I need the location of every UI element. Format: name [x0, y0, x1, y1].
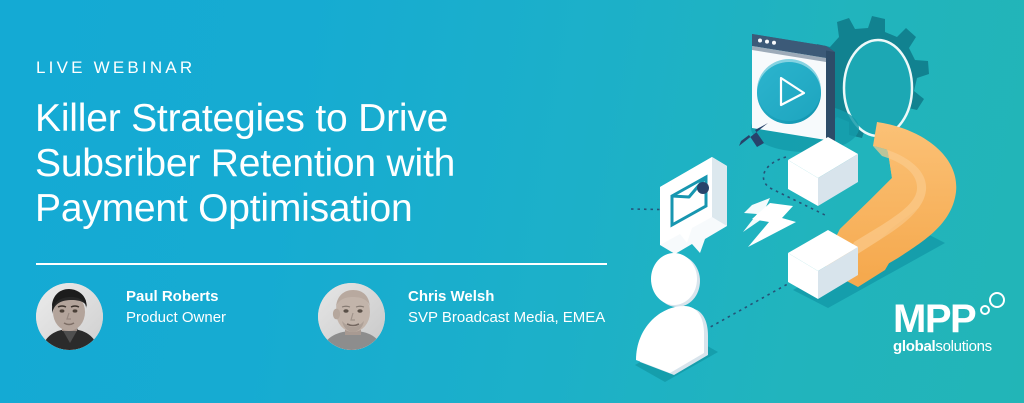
logo-tagline: globalsolutions [893, 339, 1003, 355]
kicker-label: LIVE WEBINAR [36, 58, 195, 78]
speaker-role: Product Owner [126, 307, 226, 328]
headline-line-1: Killer Strategies to Drive [35, 96, 455, 141]
avatar [36, 283, 103, 350]
logo-tagline-bold: global [893, 338, 935, 355]
webinar-banner: LIVE WEBINAR Killer Strategies to Drive … [0, 0, 1024, 403]
page-title: Killer Strategies to Drive Subsriber Ret… [35, 96, 455, 231]
magnet-icon [788, 122, 956, 299]
logo-bubbles-icon [977, 291, 1007, 321]
speaker-role: SVP Broadcast Media, EMEA [408, 307, 605, 328]
play-button-icon [757, 59, 821, 124]
speaker-name: Paul Roberts [126, 287, 226, 307]
logo-tagline-light: solutions [935, 338, 992, 355]
avatar [318, 283, 385, 350]
person-avatar-icon [635, 253, 718, 382]
speaker-name: Chris Welsh [408, 287, 605, 307]
speaker-text: Chris Welsh SVP Broadcast Media, EMEA [408, 287, 605, 328]
headline-line-3: Payment Optimisation [35, 186, 455, 231]
headline-line-2: Subsriber Retention with [35, 141, 455, 186]
envelope-speech-bubble-icon [660, 157, 727, 254]
divider [36, 263, 607, 265]
mpp-logo: MPP globalsolutions [893, 300, 1003, 362]
speaker-text: Paul Roberts Product Owner [126, 287, 226, 328]
lightning-bolt-icon [743, 198, 796, 247]
